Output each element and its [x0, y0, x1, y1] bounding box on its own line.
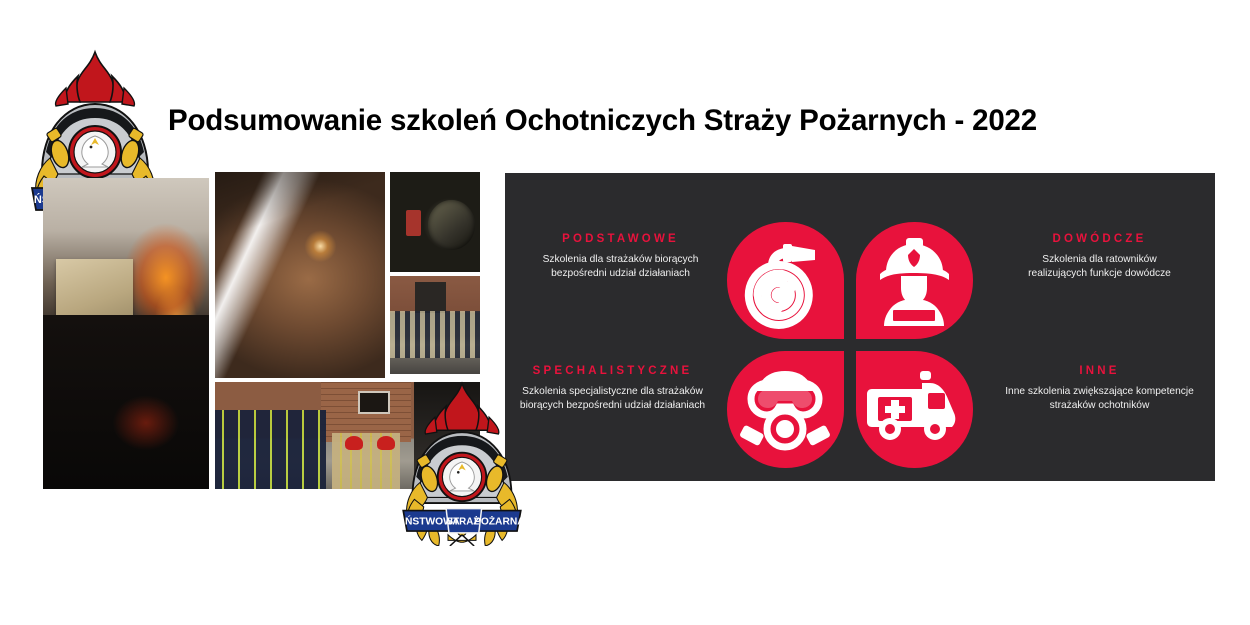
collage-photo-fire — [43, 178, 209, 489]
ambulance-icon — [856, 351, 973, 468]
category-podstawowe-desc-line2: bezpośredni udział działaniach — [513, 267, 728, 281]
category-podstawowe-description: Szkolenia dla strażaków biorących bezpoś… — [513, 253, 728, 280]
slide-root: Podsumowanie szkoleń Ochotniczych Straży… — [0, 0, 1250, 625]
category-dowodcze-title: DOWÓDCZE — [992, 233, 1207, 245]
fire-hose-icon — [727, 222, 844, 339]
category-spechalistyczne-desc-line1: Szkolenia specjalistyczne dla strażaków — [505, 385, 720, 399]
category-podstawowe-title: PODSTAWOWE — [513, 233, 728, 245]
training-red-helmet — [345, 436, 364, 451]
petal-podstawowe[interactable] — [727, 222, 844, 339]
category-spechalistyczne-description: Szkolenia specjalistyczne dla strażaków … — [505, 385, 720, 412]
training-firefighters-navy — [215, 410, 326, 489]
category-dowodcze: DOWÓDCZE Szkolenia dla ratowników realiz… — [992, 233, 1207, 280]
category-inne-desc-line1: Inne szkolenia zwiększające kompetencje — [992, 385, 1207, 399]
category-podstawowe: PODSTAWOWE Szkolenia dla strażaków biorą… — [513, 233, 728, 280]
collage-photo-group — [390, 276, 480, 374]
petal-dowodcze[interactable] — [856, 222, 973, 339]
category-spechalistyczne-title: SPECHALISTYCZNE — [505, 365, 720, 377]
category-dowodcze-description: Szkolenia dla ratowników realizujących f… — [992, 253, 1207, 280]
page-title: Podsumowanie szkoleń Ochotniczych Straży… — [168, 104, 1037, 138]
category-inne-description: Inne szkolenia zwiększające kompetencje … — [992, 385, 1207, 412]
category-inne: INNE Inne szkolenia zwiększające kompete… — [992, 365, 1207, 412]
petal-inne[interactable] — [856, 351, 973, 468]
nozzle-red-part — [406, 210, 421, 236]
category-inne-title: INNE — [992, 365, 1207, 377]
psp-logo-overlay: PAŃSTWOWA STRAŻ POŻARNA — [392, 378, 532, 546]
fire-photo-foreground — [43, 324, 169, 386]
category-spechalistyczne: SPECHALISTYCZNE Szkolenia specjalistyczn… — [505, 365, 720, 412]
training-window — [358, 391, 390, 415]
petal-spechalistyczne[interactable] — [727, 351, 844, 468]
group-photo-door — [415, 282, 446, 313]
category-dowodcze-desc-line2: realizujących funkcje dowódcze — [992, 267, 1207, 281]
logo-overlay-banner-right: POŻARNA — [474, 515, 525, 528]
category-podstawowe-desc-line1: Szkolenia dla strażaków biorących — [513, 253, 728, 267]
collage-photo-smoke — [215, 172, 385, 378]
firefighter-icon — [856, 222, 973, 339]
fire-photo-object — [56, 259, 132, 327]
category-icon-cluster — [727, 222, 973, 468]
category-dowodcze-desc-line1: Szkolenia dla ratowników — [992, 253, 1207, 267]
collage-photo-nozzle — [390, 172, 480, 272]
category-spechalistyczne-desc-line2: biorących bezpośredni udział działaniach — [505, 399, 720, 413]
category-inne-desc-line2: strażaków ochotników — [992, 399, 1207, 413]
nozzle-ring — [428, 200, 475, 250]
gas-mask-icon — [727, 351, 844, 468]
